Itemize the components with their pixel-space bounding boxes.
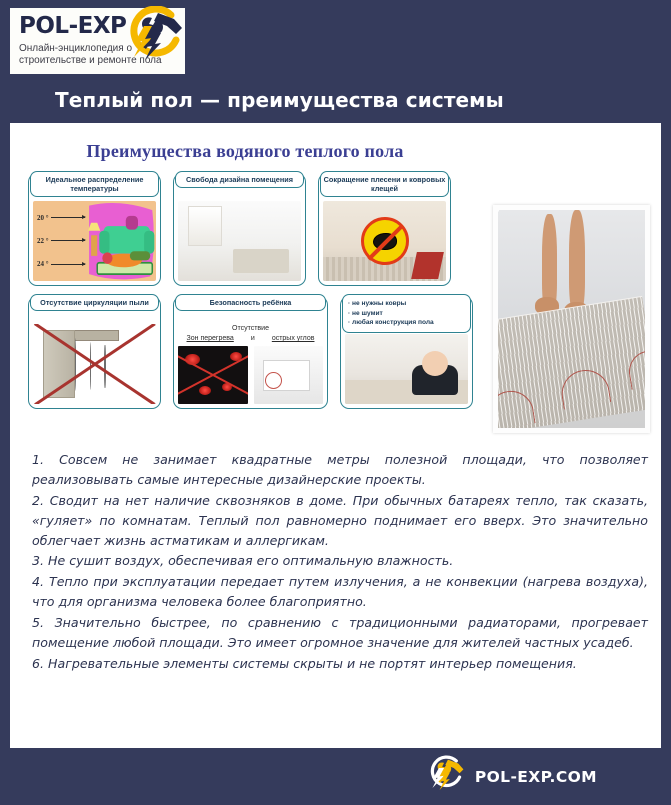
hammer-wrench-lightning-icon xyxy=(124,6,186,66)
living-room-photo xyxy=(178,201,301,281)
prohibition-sign-icon xyxy=(361,217,409,265)
page-title: Теплый пол — преимущества системы xyxy=(10,88,504,112)
heating-cable xyxy=(626,348,645,390)
card-heading: Свобода дизайна помещения xyxy=(175,171,304,188)
card-heading: Идеальное распределение температуры xyxy=(30,171,159,197)
airflow-curve xyxy=(75,338,76,391)
heating-cable xyxy=(498,388,536,428)
card-heading: Сокращение плесени и ковровых клещей xyxy=(320,171,449,197)
card-art xyxy=(323,201,446,281)
arrow-icon xyxy=(51,240,85,241)
card-temperature-distribution: Идеальное распределение температуры 20 ° xyxy=(28,173,161,286)
temperature-row: 20 ° xyxy=(37,214,85,222)
article-body: 1. Совсем не занимает квадратные метры п… xyxy=(32,450,648,675)
safety-conjunction: и xyxy=(251,335,255,342)
page-title-bar: Теплый пол — преимущества системы xyxy=(10,80,555,120)
card-mold-mites: Сокращение плесени и ковровых клещей xyxy=(318,173,451,286)
baby-head-shape xyxy=(422,351,448,376)
card-heading: Отсутствие циркуляции пыли xyxy=(30,294,159,311)
safety-item-sharp-corners: острых углов xyxy=(272,335,315,342)
infographic-cards: Идеальное распределение температуры 20 ° xyxy=(28,173,490,409)
temperature-value: 20 ° xyxy=(37,214,49,222)
temperature-row: 22 ° xyxy=(37,237,85,245)
temperature-row: 24 ° xyxy=(37,260,85,268)
arrow-icon xyxy=(51,264,85,265)
benefit-bullet-list: · не нужны ковры · не шумит · любая конс… xyxy=(342,294,471,333)
bullet-item: · не нужны ковры xyxy=(348,299,465,309)
card-art xyxy=(345,334,468,404)
arrow-icon xyxy=(51,217,85,218)
card-art: Отсутствие Зон перегрева и острых углов xyxy=(178,324,323,404)
bare-feet-on-floor-heating-mat-photo xyxy=(498,210,645,428)
card-heading: Безопасность ребёнка xyxy=(175,294,326,311)
temperature-labels: 20 ° 22 ° 24 ° xyxy=(33,201,85,281)
safety-photos xyxy=(178,346,323,404)
cartoon-room-scene xyxy=(85,201,156,281)
infographic-row-1: Идеальное распределение температуры 20 ° xyxy=(28,173,490,286)
infographic-row-2: Отсутствие циркуляции пыли xyxy=(28,296,490,409)
heating-cable xyxy=(559,367,612,410)
radiator-airflow-crossed-out-diagram xyxy=(33,324,156,404)
safety-subtitle: Отсутствие xyxy=(178,325,323,332)
footer-brand[interactable]: POL-EXP.COM xyxy=(426,755,597,799)
article-paragraph-4: 4. Тепло при эксплуатации передает путем… xyxy=(32,572,648,612)
safety-items: Зон перегрева и острых углов xyxy=(178,335,323,342)
airflow-curve xyxy=(104,345,105,388)
page-footer: POL-EXP.COM xyxy=(0,748,671,805)
card-design-freedom: Свобода дизайна помещения xyxy=(173,173,306,286)
floor-heating-photo xyxy=(493,205,650,433)
article-paragraph-3: 3. Не сушит воздух, обеспечивая его опти… xyxy=(32,551,648,571)
child-safety-content: Отсутствие Зон перегрева и острых углов xyxy=(178,324,323,404)
hammer-wrench-lightning-icon xyxy=(426,755,466,799)
content-sheet: Преимущества водяного теплого пола Идеал… xyxy=(10,123,661,748)
page-root: POL-EXP Онлайн-энциклопедия о строительс… xyxy=(0,0,671,805)
card-art xyxy=(33,324,156,404)
temperature-value: 24 ° xyxy=(37,260,49,268)
article-paragraph-5: 5. Значительно быстрее, по сравнению с т… xyxy=(32,613,648,653)
slash-icon xyxy=(367,225,402,260)
article-paragraph-6: 6. Нагревательные элементы системы скрыт… xyxy=(32,654,648,674)
card-art: 20 ° 22 ° 24 ° xyxy=(33,201,156,281)
safety-item-overheat: Зон перегрева xyxy=(187,335,234,342)
temperature-value: 22 ° xyxy=(37,237,49,245)
article-paragraph-2: 2. Сводит на нет наличие сквозняков в до… xyxy=(32,491,648,551)
dust-mite-prohibited-photo xyxy=(323,201,446,281)
article-paragraph-1: 1. Совсем не занимает квадратные метры п… xyxy=(32,450,648,490)
card-child-safety: Безопасность ребёнка Отсутствие Зон пере… xyxy=(173,296,328,409)
leg-shape xyxy=(569,210,585,315)
hot-hob-photo xyxy=(178,346,248,404)
baby-on-floor-photo xyxy=(345,334,468,404)
card-no-dust-circulation: Отсутствие циркуляции пыли xyxy=(28,296,161,409)
bullet-item: · любая конструкция пола xyxy=(348,318,465,328)
heating-mat xyxy=(498,296,645,428)
infographic: Преимущества водяного теплого пола Идеал… xyxy=(10,123,490,443)
bullet-item: · не шумит xyxy=(348,309,465,319)
infographic-title: Преимущества водяного теплого пола xyxy=(10,141,480,162)
footer-brand-text: POL-EXP.COM xyxy=(475,768,597,786)
highlight-circle-icon xyxy=(265,372,282,389)
card-art xyxy=(178,201,301,281)
sharp-corner-photo xyxy=(254,346,324,404)
card-extra-benefits: · не нужны ковры · не шумит · любая конс… xyxy=(340,296,473,409)
burner-icon xyxy=(199,386,211,395)
room-temperature-illustration: 20 ° 22 ° 24 ° xyxy=(33,201,156,281)
